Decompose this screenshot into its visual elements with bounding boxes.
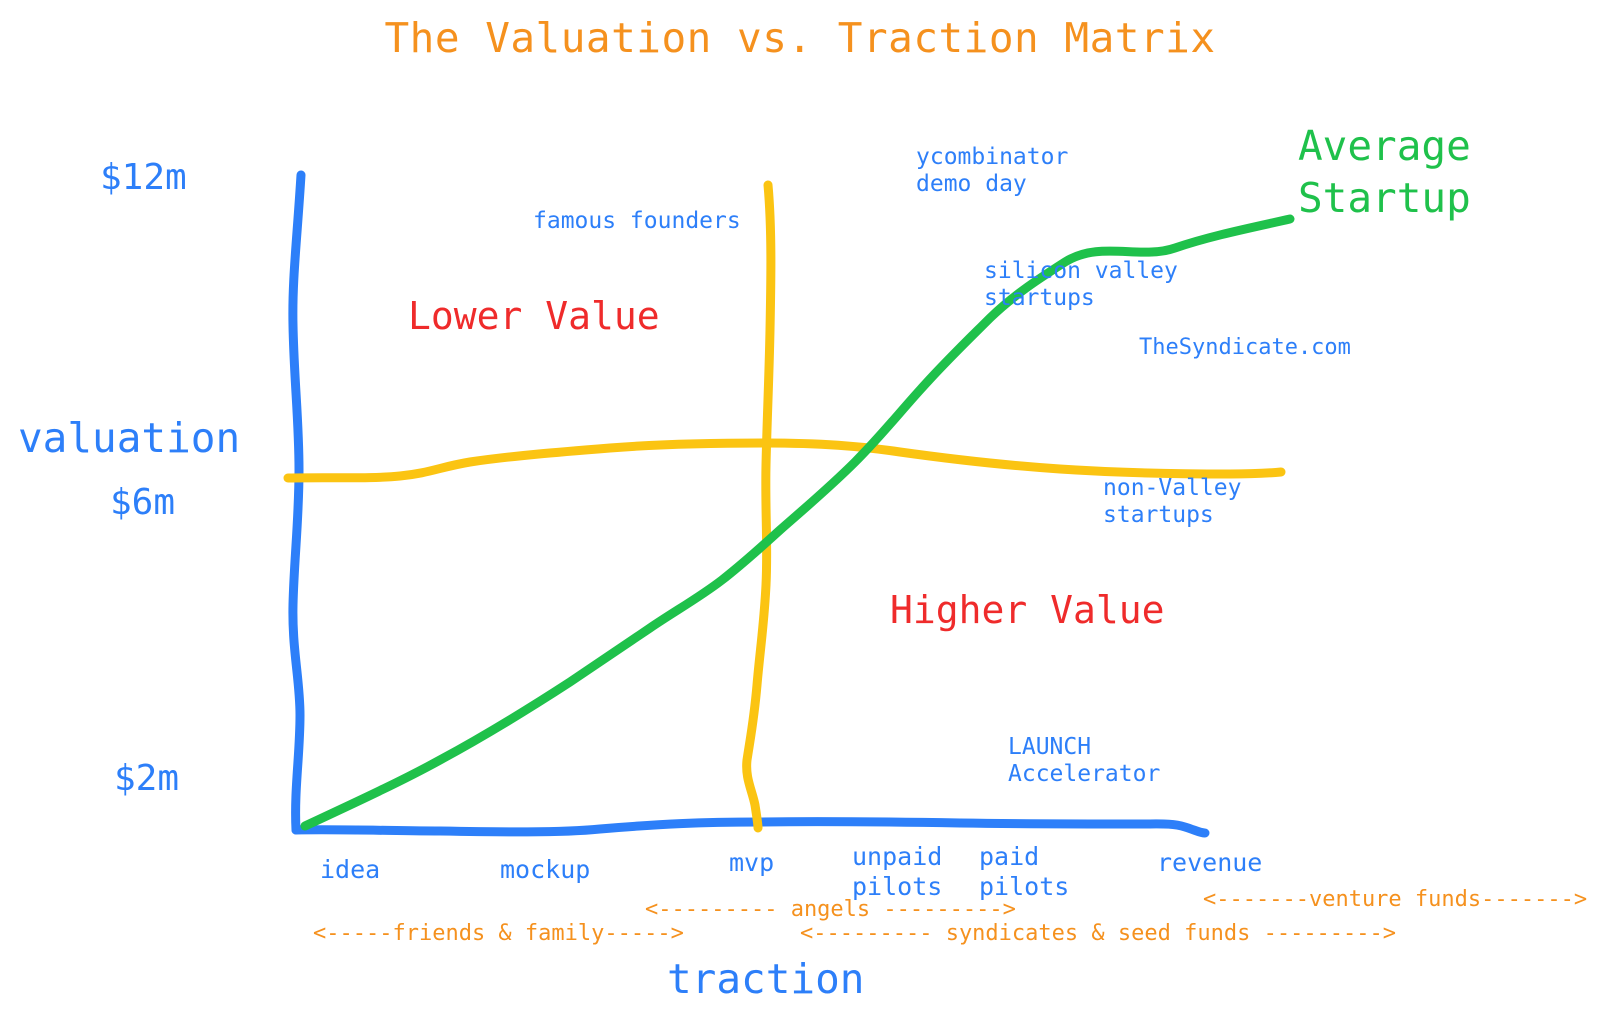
x-tick-label-paid-pilots: paid pilots — [979, 842, 1069, 901]
annotation-thesyndicate-com: TheSyndicate.com — [1139, 335, 1351, 361]
annotation-famous-founders: famous founders — [533, 208, 741, 235]
y-tick-label-12m: $12m — [100, 157, 187, 199]
x-axis-title: traction — [667, 955, 864, 1003]
x-tick-label-revenue: revenue — [1157, 848, 1262, 878]
series-line-non-valley — [288, 443, 1281, 478]
y-tick-label-6m: $6m — [110, 482, 175, 524]
y-axis-title: valuation — [18, 414, 240, 462]
x-tick-label-idea: idea — [320, 855, 380, 885]
y-tick-label-2m: $2m — [114, 758, 179, 800]
callout-higher-value: Higher Value — [890, 588, 1165, 633]
annotation-launch-accelerator: LAUNCH Accelerator — [1008, 734, 1160, 788]
funding-band-friends-and-family: <-----friends & family-----> — [313, 921, 684, 947]
funding-band-venture-funds: <-------venture funds-------> — [1203, 887, 1587, 913]
funding-band-syndicates-and-seed-funds: <--------- syndicates & seed funds -----… — [800, 921, 1396, 947]
annotation-silicon-valley-startups: silicon valley startups — [984, 258, 1178, 312]
y-axis-line — [293, 175, 301, 830]
x-tick-label-mvp: mvp — [729, 848, 774, 878]
series-line-mvp-spread — [747, 185, 771, 828]
x-tick-label-unpaid-pilots: unpaid pilots — [852, 842, 942, 901]
x-axis-line — [296, 822, 1205, 833]
series-label-average-startup: Average Startup — [1298, 120, 1471, 225]
annotation-non-valley-startups: non-Valley startups — [1103, 475, 1241, 529]
funding-band-angels: <--------- angels ---------> — [645, 897, 1016, 923]
x-tick-label-mockup: mockup — [500, 855, 590, 885]
callout-lower-value: Lower Value — [408, 294, 660, 339]
page-title: The Valuation vs. Traction Matrix — [0, 14, 1600, 62]
annotation-ycombinator-demo-day: ycombinator demo day — [916, 144, 1068, 198]
